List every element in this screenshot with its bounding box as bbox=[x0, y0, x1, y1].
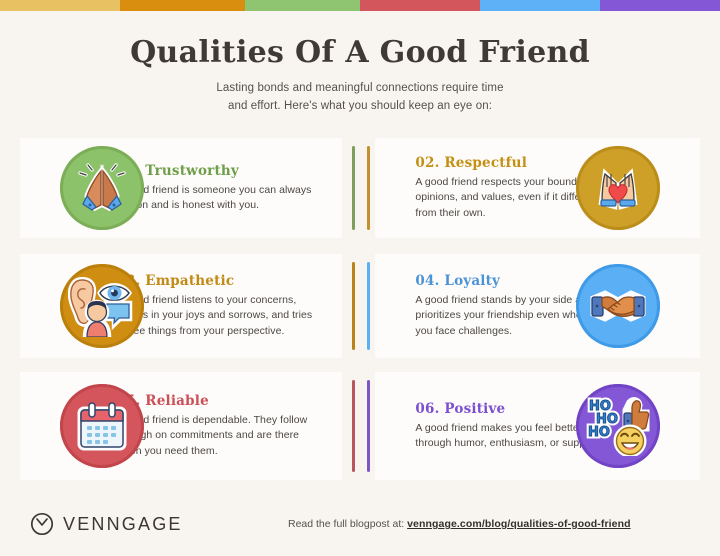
row-1-divider-bar-right bbox=[367, 146, 370, 230]
card-05-body: A good friend is dependable. They follow… bbox=[116, 413, 321, 459]
card-05-title: 05. Reliable bbox=[116, 393, 321, 409]
card-02: 02. Respectful A good friend respects yo… bbox=[375, 138, 699, 238]
subtitle-line-2: and effort. Here's what you should keep … bbox=[0, 98, 720, 116]
card-04-title: 04. Loyalty bbox=[415, 273, 603, 289]
page-title: Qualities Of A Good Friend bbox=[0, 36, 720, 69]
ear-eye-speech-icon bbox=[68, 275, 136, 337]
subtitle-line-1: Lasting bonds and meaningful connections… bbox=[0, 80, 720, 98]
row-1-left-margin bbox=[0, 138, 20, 238]
card-06-badge: HO HO HO HO HO HO bbox=[576, 384, 660, 468]
ho-ho-ho-text-icon: HO HO HO HO HO HO bbox=[588, 399, 618, 440]
card-03: 03. Empathetic A good friend listens to … bbox=[20, 254, 342, 358]
infographic-poster: Qualities Of A Good Friend Lasting bonds… bbox=[0, 0, 720, 556]
topbar-segment-1 bbox=[0, 0, 120, 11]
topbar-segment-5 bbox=[480, 0, 600, 11]
venngage-brand[interactable]: VENNGAGE bbox=[30, 512, 183, 536]
row-2-divider bbox=[342, 254, 375, 358]
card-06-title: 06. Positive bbox=[415, 401, 603, 417]
row-1-divider bbox=[342, 138, 375, 238]
blogpost-line: Read the full blogpost at: venngage.com/… bbox=[288, 518, 631, 530]
row-2-divider-bar-left bbox=[352, 262, 355, 350]
card-row-1: 01. Trustworthy A good friend is someone… bbox=[0, 138, 720, 238]
row-2-right-margin bbox=[700, 254, 720, 358]
card-01-badge bbox=[60, 146, 144, 230]
card-row-2: 03. Empathetic A good friend listens to … bbox=[0, 254, 720, 358]
blogpost-link[interactable]: venngage.com/blog/qualities-of-good-frie… bbox=[407, 518, 631, 530]
thumbs-up-icon bbox=[624, 400, 649, 429]
row-1-divider-bar-left bbox=[352, 146, 355, 230]
row-3-right-margin bbox=[700, 372, 720, 480]
smiling-face-icon bbox=[616, 427, 644, 455]
open-hands-heart-icon bbox=[591, 163, 645, 213]
card-row-3: 05. Reliable A good friend is dependable… bbox=[0, 372, 720, 480]
row-1-right-margin bbox=[700, 138, 720, 238]
eye-icon bbox=[100, 286, 129, 302]
card-05-badge bbox=[60, 384, 144, 468]
topbar-segment-4 bbox=[360, 0, 480, 11]
card-03-badge bbox=[60, 264, 144, 348]
card-06: 06. Positive A good friend makes you fee… bbox=[375, 372, 699, 480]
card-05-text: 05. Reliable A good friend is dependable… bbox=[116, 393, 321, 459]
card-03-body: A good friend listens to your concerns, … bbox=[116, 293, 321, 339]
card-05: 05. Reliable A good friend is dependable… bbox=[20, 372, 342, 480]
footer: VENNGAGE Read the full blogpost at: venn… bbox=[0, 492, 720, 556]
person-speech-icon bbox=[85, 301, 130, 337]
row-3-divider bbox=[342, 372, 375, 480]
header: Qualities Of A Good Friend Lasting bonds… bbox=[0, 36, 720, 116]
card-04-badge bbox=[576, 264, 660, 348]
page-subtitle: Lasting bonds and meaningful connections… bbox=[0, 80, 720, 116]
svg-text:HO: HO bbox=[588, 425, 610, 440]
row-3-left-margin bbox=[0, 372, 20, 480]
row-3-divider-bar-left bbox=[352, 380, 355, 472]
card-01-text: 01. Trustworthy A good friend is someone… bbox=[116, 163, 321, 213]
top-color-bar bbox=[0, 0, 720, 11]
laughing-thumbsup-icon: HO HO HO HO HO HO bbox=[585, 396, 651, 456]
card-01-body: A good friend is someone you can always … bbox=[116, 183, 321, 213]
card-03-text: 03. Empathetic A good friend listens to … bbox=[116, 273, 321, 339]
venngage-brand-name: VENNGAGE bbox=[63, 514, 183, 535]
praying-hands-icon bbox=[76, 162, 128, 214]
row-2-divider-bar-right bbox=[367, 262, 370, 350]
row-3-divider-bar-right bbox=[367, 380, 370, 472]
card-02-title: 02. Respectful bbox=[415, 155, 603, 171]
card-03-title: 03. Empathetic bbox=[116, 273, 321, 289]
blogpost-prefix: Read the full blogpost at: bbox=[288, 518, 404, 530]
topbar-segment-3 bbox=[245, 0, 360, 11]
card-01-title: 01. Trustworthy bbox=[116, 163, 321, 179]
topbar-segment-2 bbox=[120, 0, 245, 11]
card-04: 04. Loyalty A good friend stands by your… bbox=[375, 254, 699, 358]
calendar-icon bbox=[76, 400, 128, 452]
row-2-left-margin bbox=[0, 254, 20, 358]
topbar-segment-6 bbox=[600, 0, 720, 11]
handshake-icon bbox=[589, 284, 647, 328]
venngage-clock-icon bbox=[30, 512, 54, 536]
card-02-badge bbox=[576, 146, 660, 230]
card-01: 01. Trustworthy A good friend is someone… bbox=[20, 138, 342, 238]
